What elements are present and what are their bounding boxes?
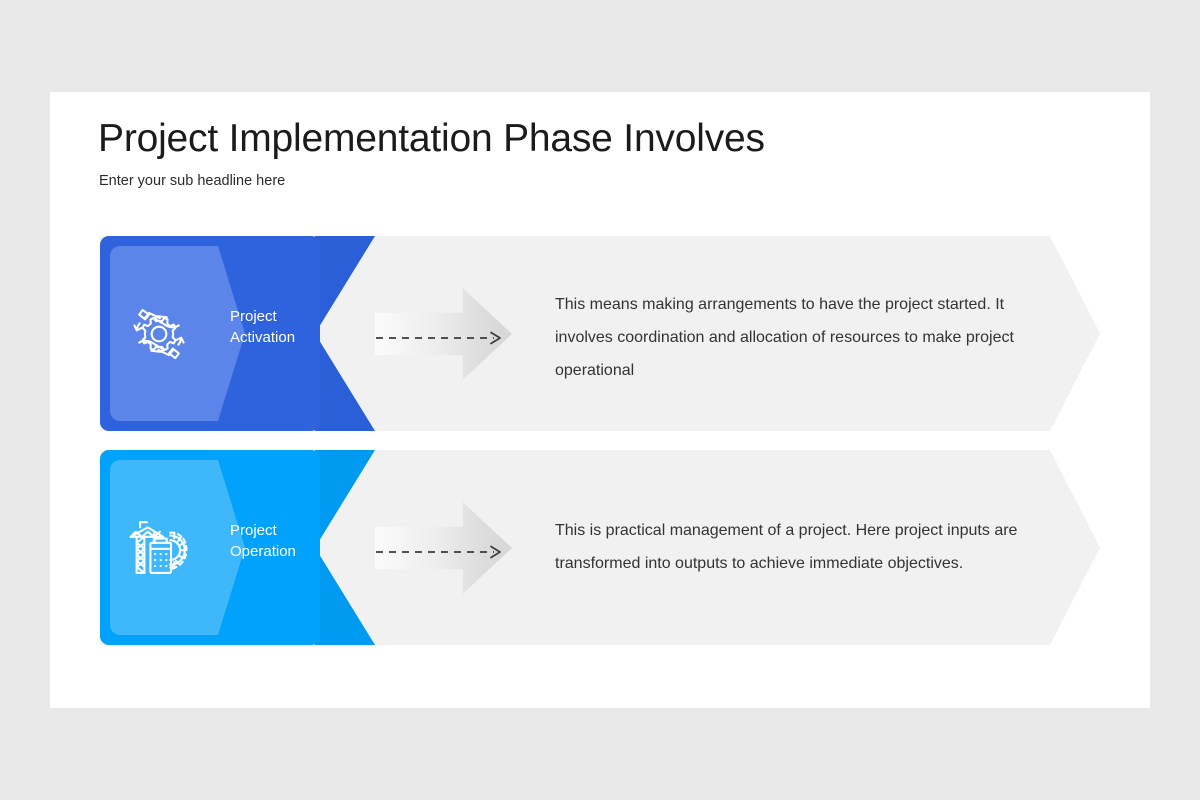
crane-building-gear-icon [116, 505, 202, 591]
row-description: This is practical management of a projec… [555, 514, 1025, 580]
hands-gear-icon [116, 291, 202, 377]
dashed-arrow-icon [376, 546, 516, 558]
process-row[interactable]: Project Operation This is practical mana… [50, 450, 1150, 645]
dashed-arrow-icon [376, 332, 516, 344]
slide-canvas: Project Implementation Phase Involves En… [0, 0, 1200, 800]
row-description: This means making arrangements to have t… [555, 288, 1025, 387]
page-title: Project Implementation Phase Involves [98, 117, 765, 161]
process-card[interactable]: Project Activation [100, 236, 320, 431]
card-label: Project Activation [230, 306, 320, 348]
card-label-line1: Project [230, 308, 277, 325]
page-subtitle: Enter your sub headline here [99, 173, 285, 189]
card-label: Project Operation [230, 520, 320, 562]
card-label-line2: Activation [230, 329, 295, 346]
card-label-line1: Project [230, 522, 277, 539]
card-label-line2: Operation [230, 543, 296, 560]
process-row[interactable]: Project Activation This means making arr… [50, 236, 1150, 431]
process-card[interactable]: Project Operation [100, 450, 320, 645]
slide-surface: Project Implementation Phase Involves En… [50, 92, 1150, 708]
